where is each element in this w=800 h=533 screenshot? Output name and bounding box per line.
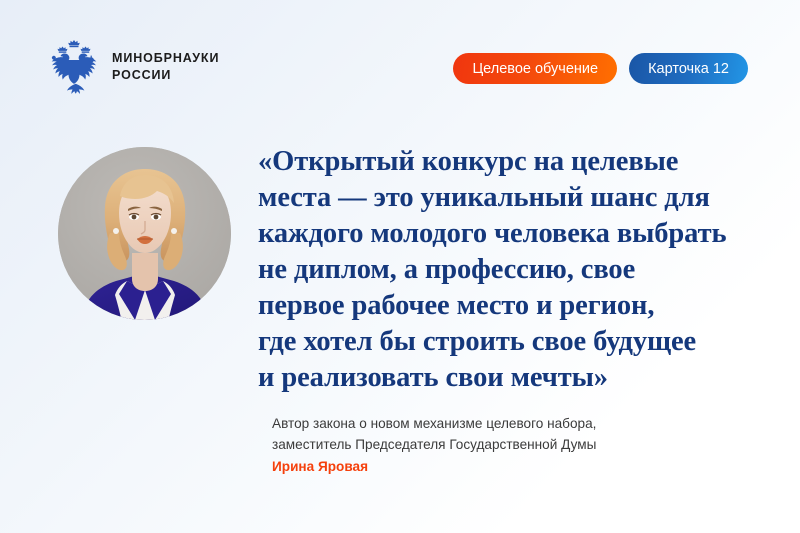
quote-text: «Открытый конкурс на целевые места — это… [258, 144, 768, 396]
attribution-description: Автор закона о новом механизме целевого … [272, 413, 732, 455]
badge-program-type[interactable]: Целевое обучение [453, 53, 617, 84]
attribution: Автор закона о новом механизме целевого … [272, 413, 732, 477]
attribution-person-name: Ирина Яровая [272, 456, 732, 477]
russian-double-headed-eagle-emblem [48, 38, 100, 96]
ministry-branding: МИНОБРНАУКИ РОССИИ [48, 38, 219, 96]
badge-card-number[interactable]: Карточка 12 [629, 53, 748, 84]
portrait-photo [58, 147, 231, 320]
quote-card: МИНОБРНАУКИ РОССИИ Целевое обучение Карт… [0, 0, 800, 533]
ministry-name: МИНОБРНАУКИ РОССИИ [112, 50, 219, 84]
badge-group: Целевое обучение Карточка 12 [453, 53, 748, 84]
